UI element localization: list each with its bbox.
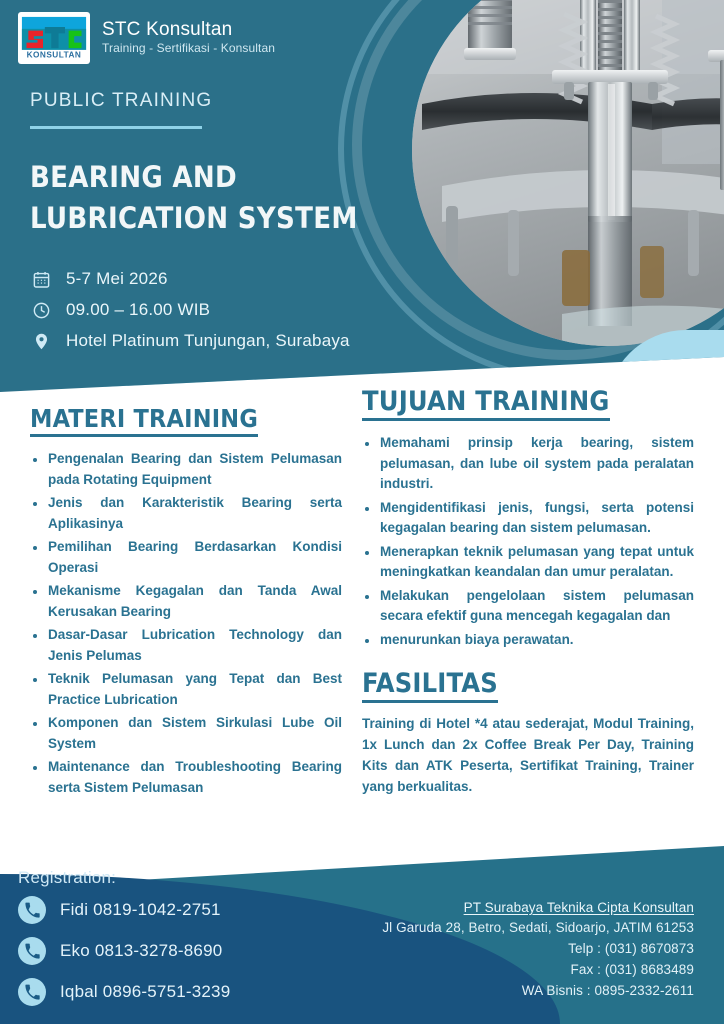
list-item: Melakukan pengelolaan sistem pelumasan s… <box>362 586 694 627</box>
title-divider <box>30 126 202 129</box>
company-fax: Fax : (031) 8683489 <box>382 960 694 981</box>
list-item: Menerapkan teknik pelumasan yang tepat u… <box>362 542 694 583</box>
phone-icon[interactable] <box>18 978 46 1006</box>
list-item: Dasar-Dasar Lubrication Technology dan J… <box>30 625 342 666</box>
registration-title: Registration: <box>18 868 116 888</box>
contact-row[interactable]: Iqbal 0896-5751-3239 <box>18 978 230 1006</box>
list-item: menurunkan biaya perawatan. <box>362 630 694 651</box>
company-whatsapp: WA Bisnis : 0895-2332-2611 <box>382 981 694 1002</box>
poster-header: KONSULTAN STC Konsultan Training - Serti… <box>0 0 724 392</box>
contact-name-number: Fidi 0819-1042-2751 <box>60 900 221 920</box>
list-item: Mekanisme Kegagalan dan Tanda Awal Kerus… <box>30 581 342 622</box>
event-meta: 5-7 Mei 2026 09.00 – 16.00 WIB <box>30 268 350 361</box>
calendar-icon <box>30 268 52 290</box>
tujuan-list: Memahami prinsip kerja bearing, sistem p… <box>362 433 694 650</box>
training-poster: KONSULTAN STC Konsultan Training - Serti… <box>0 0 724 1024</box>
company-telp: Telp : (031) 8670873 <box>382 939 694 960</box>
list-item: Maintenance dan Troubleshooting Bearing … <box>30 757 342 798</box>
title-line-2: LUBRICATION SYSTEM <box>30 198 370 239</box>
fasilitas-section: FASILITAS Training di Hotel *4 atau sede… <box>362 668 694 797</box>
contact-name-number: Iqbal 0896-5751-3239 <box>60 982 230 1002</box>
brand-name: STC Konsultan <box>102 19 275 41</box>
page-title: BEARING AND LUBRICATION SYSTEM <box>30 157 370 239</box>
event-time: 09.00 – 16.00 WIB <box>66 300 210 320</box>
list-item: Pengenalan Bearing dan Sistem Pelumasan … <box>30 449 342 490</box>
company-name: PT Surabaya Teknika Cipta Konsultan <box>382 900 694 915</box>
contact-row[interactable]: Eko 0813-3278-8690 <box>18 937 230 965</box>
list-item: Memahami prinsip kerja bearing, sistem p… <box>362 433 694 495</box>
location-pin-icon <box>30 330 52 352</box>
fasilitas-heading: FASILITAS <box>362 668 498 703</box>
svg-text:KONSULTAN: KONSULTAN <box>27 51 82 60</box>
company-info: PT Surabaya Teknika Cipta Konsultan Jl G… <box>382 900 694 1002</box>
contact-row[interactable]: Fidi 0819-1042-2751 <box>18 896 230 924</box>
fasilitas-body: Training di Hotel *4 atau sederajat, Mod… <box>362 713 694 797</box>
materi-section: MATERI TRAINING Pengenalan Bearing dan S… <box>30 404 342 801</box>
list-item: Teknik Pelumasan yang Tepat dan Best Pra… <box>30 669 342 710</box>
materi-heading: MATERI TRAINING <box>30 404 258 437</box>
list-item: Pemilihan Bearing Berdasarkan Kondisi Op… <box>30 537 342 578</box>
tujuan-section: TUJUAN TRAINING Memahami prinsip kerja b… <box>362 386 694 797</box>
materi-list: Pengenalan Bearing dan Sistem Pelumasan … <box>30 449 342 798</box>
eyebrow-label: PUBLIC TRAINING <box>30 90 212 112</box>
list-item: Mengidentifikasi jenis, fungsi, serta po… <box>362 498 694 539</box>
phone-icon[interactable] <box>18 937 46 965</box>
event-date: 5-7 Mei 2026 <box>66 269 168 289</box>
list-item: Komponen dan Sistem Sirkulasi Lube Oil S… <box>30 713 342 754</box>
title-line-1: BEARING AND <box>30 160 237 194</box>
company-address: Jl Garuda 28, Betro, Sedati, Sidoarjo, J… <box>382 918 694 939</box>
event-location: Hotel Platinum Tunjungan, Surabaya <box>66 331 350 351</box>
tujuan-heading: TUJUAN TRAINING <box>362 386 610 421</box>
contact-name-number: Eko 0813-3278-8690 <box>60 941 222 961</box>
list-item: Jenis dan Karakteristik Bearing serta Ap… <box>30 493 342 534</box>
phone-icon[interactable] <box>18 896 46 924</box>
stc-logo-icon: KONSULTAN <box>18 12 90 64</box>
brand-lockup: KONSULTAN STC Konsultan Training - Serti… <box>18 12 275 64</box>
registration-contacts: Fidi 0819-1042-2751 Eko 0813-3278-8690 I… <box>18 896 230 1019</box>
meta-time-row: 09.00 – 16.00 WIB <box>30 299 350 321</box>
meta-date-row: 5-7 Mei 2026 <box>30 268 350 290</box>
meta-location-row: Hotel Platinum Tunjungan, Surabaya <box>30 330 350 352</box>
brand-tagline: Training - Sertifikasi - Konsultan <box>102 41 275 57</box>
clock-icon <box>30 299 52 321</box>
